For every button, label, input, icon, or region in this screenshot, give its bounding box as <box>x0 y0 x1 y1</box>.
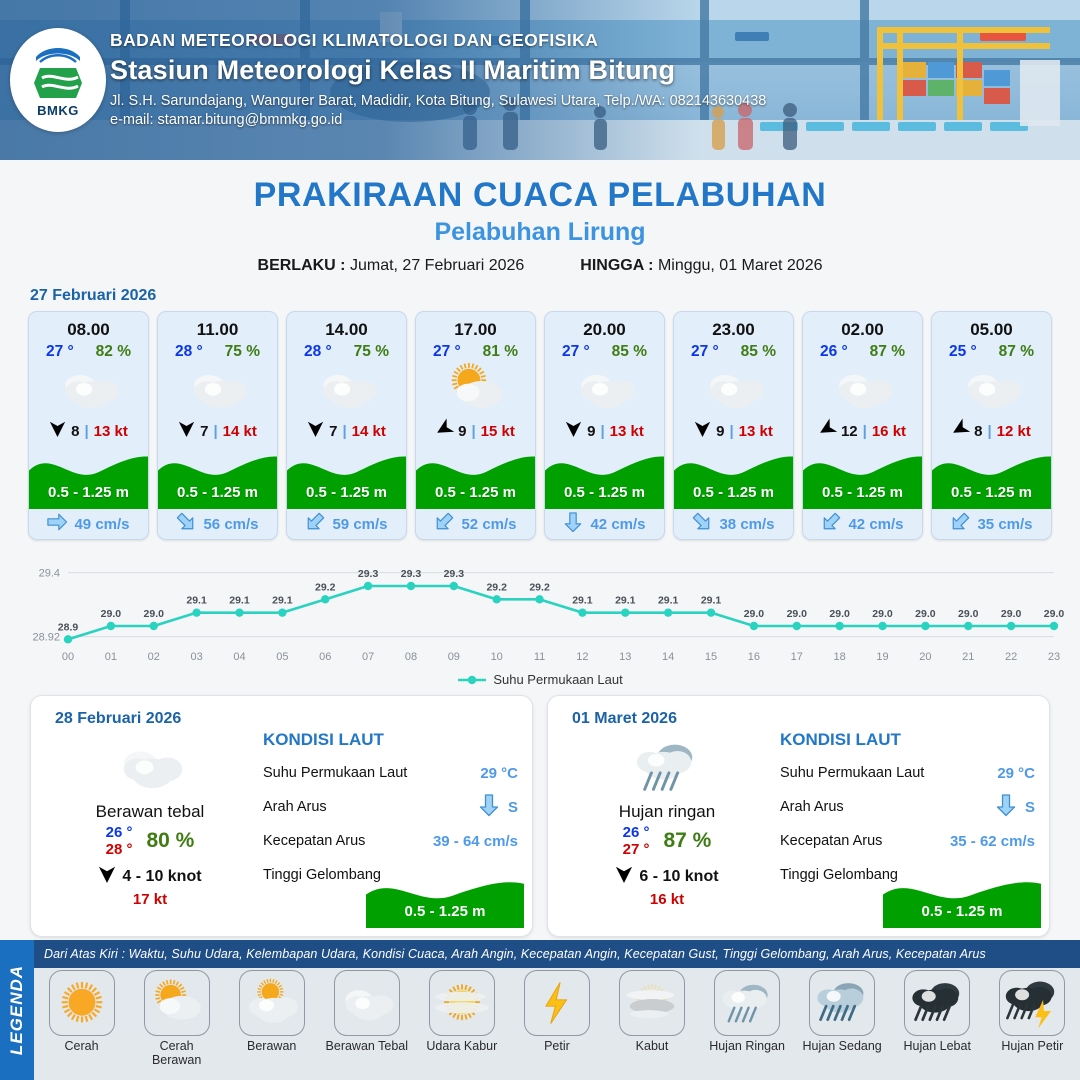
card-wave-band: 0.5 - 1.25 m <box>287 447 406 509</box>
panel-row-label: Suhu Permukaan Laut <box>780 765 924 781</box>
current-direction-arrow-icon <box>47 511 67 538</box>
panel-wind-range: 4 - 10 knot <box>122 868 201 886</box>
station-name: Stasiun Meteorologi Kelas II Maritim Bit… <box>110 55 766 86</box>
panel-temp-col: 26 ° 27 ° <box>623 824 650 858</box>
legend-kabut-icon <box>619 970 685 1036</box>
wind-gust-separator: | <box>471 423 475 440</box>
berlaku-label: BERLAKU : <box>258 257 346 274</box>
svg-text:29.1: 29.1 <box>229 595 250 607</box>
panel-row-label: Kecepatan Arus <box>780 833 882 849</box>
wind-direction-arrow-icon <box>436 419 453 443</box>
legend-item-label: Berawan Tebal <box>324 1039 410 1053</box>
card-wind-row: 8 | 13 kt <box>29 417 148 445</box>
legend-item: Berawan <box>229 970 315 1067</box>
hourly-forecast-list: 08.00 27 ° 82 % 8 | 13 kt 0.5 - 1.25 m <box>0 311 1080 540</box>
card-current-row: 52 cm/s <box>416 509 535 539</box>
panel-gust: 17 kt <box>45 891 255 908</box>
card-time: 11.00 <box>158 312 277 340</box>
svg-text:10: 10 <box>491 651 503 663</box>
card-wave-height: 0.5 - 1.25 m <box>287 484 406 501</box>
panel-summary: Hujan ringan 26 ° 27 ° 87 % 6 - 10 knot … <box>562 736 772 908</box>
card-gust: 15 kt <box>481 423 515 440</box>
current-direction-arrow-icon <box>434 511 454 538</box>
panel-temp-min: 26 ° <box>106 824 133 841</box>
svg-text:29.0: 29.0 <box>101 608 122 620</box>
legend-item: Hujan Ringan <box>704 970 790 1067</box>
legend-cerah-icon <box>49 970 115 1036</box>
card-current-row: 42 cm/s <box>545 509 664 539</box>
hourly-forecast-card: 17.00 27 ° 81 % 9 | 15 kt 0.5 - 1.25 m 5… <box>415 311 536 540</box>
card-wind-speed: 12 <box>841 423 858 440</box>
weather-hujan-ringan-icon <box>562 736 772 798</box>
card-temp-hum-row: 27 ° 82 % <box>29 340 148 361</box>
card-wave-height: 0.5 - 1.25 m <box>416 484 535 501</box>
svg-text:29.0: 29.0 <box>787 608 808 620</box>
panel-sea-title: KONDISI LAUT <box>780 730 1035 750</box>
card-time: 14.00 <box>287 312 406 340</box>
panel-row-value: 29 °C <box>480 765 518 782</box>
card-wind-speed: 8 <box>71 423 79 440</box>
card-wind-speed: 8 <box>974 423 982 440</box>
card-wave-band: 0.5 - 1.25 m <box>674 447 793 509</box>
legend-item-label: Hujan Sedang <box>799 1039 885 1053</box>
panel-date: 28 Februari 2026 <box>55 710 181 728</box>
legend-item: Hujan Sedang <box>799 970 885 1067</box>
card-wind-row: 9 | 15 kt <box>416 417 535 445</box>
card-gust: 13 kt <box>739 423 773 440</box>
weather-berawan-tebal-icon <box>932 361 1051 417</box>
card-wave-height: 0.5 - 1.25 m <box>932 484 1051 501</box>
svg-text:23: 23 <box>1048 651 1060 663</box>
svg-text:15: 15 <box>705 651 717 663</box>
legend-section: LEGENDA Dari Atas Kiri : Waktu, Suhu Uda… <box>0 940 1080 1080</box>
card-current-speed: 52 cm/s <box>461 516 516 533</box>
legend-item-label: Kabut <box>609 1039 695 1053</box>
wind-direction-arrow-icon <box>307 419 324 443</box>
legend-petir-icon <box>524 970 590 1036</box>
daily-forecast-panel: 28 Februari 2026 Berawan tebal 26 ° 28 °… <box>30 695 533 937</box>
panel-row-value: S <box>478 793 518 822</box>
svg-text:02: 02 <box>148 651 160 663</box>
legend-item-label: Hujan Petir <box>989 1039 1075 1053</box>
legend-item: Udara Kabur <box>419 970 505 1067</box>
svg-text:22: 22 <box>1005 651 1017 663</box>
legend-udara-kabur-icon <box>429 970 495 1036</box>
svg-text:12: 12 <box>576 651 588 663</box>
panel-wave-band: 0.5 - 1.25 m <box>366 874 524 928</box>
svg-text:05: 05 <box>276 651 288 663</box>
svg-text:04: 04 <box>233 651 245 663</box>
card-wave-height: 0.5 - 1.25 m <box>545 484 664 501</box>
svg-text:09: 09 <box>448 651 460 663</box>
panel-row-label: Arah Arus <box>780 799 844 815</box>
legend-item: Kabut <box>609 970 695 1067</box>
bmkg-hex-icon <box>32 66 84 100</box>
svg-text:29.1: 29.1 <box>186 595 207 607</box>
card-wind-row: 7 | 14 kt <box>158 417 277 445</box>
svg-text:21: 21 <box>962 651 974 663</box>
panel-current-direction: S <box>508 799 518 816</box>
organization-name: BADAN METEOROLOGI KLIMATOLOGI DAN GEOFIS… <box>110 30 766 51</box>
panel-row: Suhu Permukaan Laut 29 °C <box>263 756 518 790</box>
card-wind-row: 9 | 13 kt <box>545 417 664 445</box>
wind-gust-separator: | <box>84 423 88 440</box>
svg-text:29.4: 29.4 <box>39 568 60 580</box>
current-direction-arrow-icon <box>821 511 841 538</box>
panel-humidity: 87 % <box>663 829 711 853</box>
current-direction-arrow-icon <box>950 511 970 538</box>
logo-label: BMKG <box>37 103 79 118</box>
wind-gust-separator: | <box>600 423 604 440</box>
svg-text:29.0: 29.0 <box>829 608 850 620</box>
legend-item-label: Cerah Berawan <box>134 1039 220 1067</box>
bmkg-wave-icon <box>32 43 84 65</box>
validity-to: HINGGA : Minggu, 01 Maret 2026 <box>580 257 822 275</box>
panel-wave-band: 0.5 - 1.25 m <box>883 874 1041 928</box>
card-wave-height: 0.5 - 1.25 m <box>674 484 793 501</box>
legend-side-banner: LEGENDA <box>0 940 34 1080</box>
card-time: 02.00 <box>803 312 922 340</box>
card-wind-speed: 7 <box>329 423 337 440</box>
card-current-row: 49 cm/s <box>29 509 148 539</box>
card-wave-height: 0.5 - 1.25 m <box>29 484 148 501</box>
card-wind-row: 12 | 16 kt <box>803 417 922 445</box>
wind-direction-arrow-icon <box>615 864 633 889</box>
card-temp-hum-row: 26 ° 87 % <box>803 340 922 361</box>
card-wave-band: 0.5 - 1.25 m <box>932 447 1051 509</box>
panel-row-value: S <box>995 793 1035 822</box>
current-direction-arrow-icon <box>692 511 712 538</box>
card-time: 05.00 <box>932 312 1051 340</box>
svg-text:29.0: 29.0 <box>1044 608 1065 620</box>
infographic-page: BMKG BADAN METEOROLOGI KLIMATOLOGI DAN G… <box>0 0 1080 1080</box>
legend-hujan-petir-icon <box>999 970 1065 1036</box>
card-gust: 14 kt <box>352 423 386 440</box>
page-header: BMKG BADAN METEOROLOGI KLIMATOLOGI DAN G… <box>0 0 1080 160</box>
chart-legend-marker-icon <box>457 674 487 686</box>
wind-gust-separator: | <box>863 423 867 440</box>
wind-gust-separator: | <box>987 423 991 440</box>
panel-row-label: Suhu Permukaan Laut <box>263 765 407 781</box>
hourly-forecast-card: 05.00 25 ° 87 % 8 | 12 kt 0.5 - 1.25 m <box>931 311 1052 540</box>
hingga-label: HINGGA : <box>580 257 653 274</box>
hourly-date-label: 27 Februari 2026 <box>30 287 1080 305</box>
panel-sea-conditions: KONDISI LAUT Suhu Permukaan Laut 29 °C A… <box>263 730 518 892</box>
card-current-speed: 59 cm/s <box>332 516 387 533</box>
card-current-speed: 56 cm/s <box>203 516 258 533</box>
card-wind-row: 7 | 14 kt <box>287 417 406 445</box>
daily-forecast-panels: 28 Februari 2026 Berawan tebal 26 ° 28 °… <box>0 687 1080 937</box>
chart-legend-label: Suhu Permukaan Laut <box>493 672 622 687</box>
svg-text:29.1: 29.1 <box>272 595 293 607</box>
legend-item: Berawan Tebal <box>324 970 410 1067</box>
svg-text:16: 16 <box>748 651 760 663</box>
svg-text:29.3: 29.3 <box>444 568 465 580</box>
svg-text:20: 20 <box>919 651 931 663</box>
svg-text:29.0: 29.0 <box>872 608 893 620</box>
svg-text:17: 17 <box>791 651 803 663</box>
weather-cerah-berawan-icon <box>416 361 535 417</box>
weather-berawan-tebal-icon <box>545 361 664 417</box>
svg-text:14: 14 <box>662 651 674 663</box>
card-time: 23.00 <box>674 312 793 340</box>
page-title: PRAKIRAAN CUACA PELABUHAN <box>0 176 1080 215</box>
panel-wave-height: 0.5 - 1.25 m <box>883 903 1041 920</box>
panel-row-label: Kecepatan Arus <box>263 833 365 849</box>
panel-row-label: Arah Arus <box>263 799 327 815</box>
card-time: 08.00 <box>29 312 148 340</box>
panel-row-value: 39 - 64 cm/s <box>433 833 518 850</box>
legend-hujan-ringan-icon <box>714 970 780 1036</box>
svg-text:19: 19 <box>876 651 888 663</box>
card-current-row: 42 cm/s <box>803 509 922 539</box>
panel-wind-range: 6 - 10 knot <box>639 868 718 886</box>
panel-row: Arah Arus S <box>263 790 518 824</box>
svg-text:29.0: 29.0 <box>144 608 165 620</box>
hourly-forecast-card: 11.00 28 ° 75 % 7 | 14 kt 0.5 - 1.25 m <box>157 311 278 540</box>
panel-row-value: 35 - 62 cm/s <box>950 833 1035 850</box>
wind-direction-arrow-icon <box>565 419 582 443</box>
card-temp-hum-row: 27 ° 85 % <box>545 340 664 361</box>
svg-text:29.1: 29.1 <box>572 595 593 607</box>
current-direction-arrow-icon <box>995 793 1017 822</box>
wind-direction-arrow-icon <box>694 419 711 443</box>
svg-text:29.0: 29.0 <box>915 608 936 620</box>
card-current-row: 38 cm/s <box>674 509 793 539</box>
card-current-row: 56 cm/s <box>158 509 277 539</box>
bmkg-logo: BMKG <box>10 28 106 132</box>
panel-wind-row: 4 - 10 knot <box>45 864 255 889</box>
svg-text:03: 03 <box>190 651 202 663</box>
page-subtitle: Pelabuhan Lirung <box>0 218 1080 247</box>
svg-text:08: 08 <box>405 651 417 663</box>
wind-direction-arrow-icon <box>178 419 195 443</box>
weather-berawan-tebal-icon <box>29 361 148 417</box>
validity-row: BERLAKU : Jumat, 27 Februari 2026 HINGGA… <box>0 257 1080 275</box>
legend-item-label: Hujan Ringan <box>704 1039 790 1053</box>
weather-berawan-tebal-icon <box>45 736 255 798</box>
svg-text:29.1: 29.1 <box>615 595 636 607</box>
weather-berawan-tebal-icon <box>803 361 922 417</box>
current-direction-arrow-icon <box>176 511 196 538</box>
svg-text:28.92: 28.92 <box>32 632 60 644</box>
panel-row-label: Tinggi Gelombang <box>263 867 381 883</box>
svg-text:00: 00 <box>62 651 74 663</box>
panel-sea-title: KONDISI LAUT <box>263 730 518 750</box>
svg-text:29.2: 29.2 <box>529 581 550 593</box>
wind-direction-arrow-icon <box>819 419 836 443</box>
svg-text:06: 06 <box>319 651 331 663</box>
legend-item: Hujan Lebat <box>894 970 980 1067</box>
panel-gust: 16 kt <box>562 891 772 908</box>
panel-temp-max: 27 ° <box>623 841 650 858</box>
current-direction-arrow-icon <box>478 793 500 822</box>
card-wind-speed: 9 <box>587 423 595 440</box>
card-current-speed: 35 cm/s <box>977 516 1032 533</box>
svg-text:29.0: 29.0 <box>744 608 765 620</box>
legend-item-label: Berawan <box>229 1039 315 1053</box>
hourly-forecast-card: 08.00 27 ° 82 % 8 | 13 kt 0.5 - 1.25 m <box>28 311 149 540</box>
svg-text:29.2: 29.2 <box>315 581 336 593</box>
card-wave-height: 0.5 - 1.25 m <box>803 484 922 501</box>
svg-text:28.9: 28.9 <box>58 621 79 633</box>
card-current-row: 59 cm/s <box>287 509 406 539</box>
svg-text:29.3: 29.3 <box>401 568 422 580</box>
svg-text:29.1: 29.1 <box>701 595 722 607</box>
station-address: Jl. S.H. Sarundajang, Wangurer Barat, Ma… <box>110 93 766 109</box>
panel-row: Suhu Permukaan Laut 29 °C <box>780 756 1035 790</box>
card-wave-band: 0.5 - 1.25 m <box>803 447 922 509</box>
validity-from: BERLAKU : Jumat, 27 Februari 2026 <box>258 257 525 275</box>
card-wind-row: 9 | 13 kt <box>674 417 793 445</box>
daily-forecast-panel: 01 Maret 2026 Hujan ringan 26 ° 27 ° 87 … <box>547 695 1050 937</box>
card-temp-hum-row: 27 ° 85 % <box>674 340 793 361</box>
svg-text:13: 13 <box>619 651 631 663</box>
card-wave-band: 0.5 - 1.25 m <box>29 447 148 509</box>
card-temp-hum-row: 28 ° 75 % <box>158 340 277 361</box>
panel-wave-height: 0.5 - 1.25 m <box>366 903 524 920</box>
panel-condition: Berawan tebal <box>45 802 255 822</box>
card-wind-speed: 9 <box>716 423 724 440</box>
legend-item: Cerah Berawan <box>134 970 220 1067</box>
legend-side-label: LEGENDA <box>7 965 27 1055</box>
panel-temps: 26 ° 27 ° 87 % <box>562 824 772 858</box>
panel-sea-conditions: KONDISI LAUT Suhu Permukaan Laut 29 °C A… <box>780 730 1035 892</box>
svg-text:29.1: 29.1 <box>658 595 679 607</box>
legend-item-label: Petir <box>514 1039 600 1053</box>
hourly-forecast-card: 20.00 27 ° 85 % 9 | 13 kt 0.5 - 1.25 m <box>544 311 665 540</box>
weather-berawan-tebal-icon <box>158 361 277 417</box>
panel-row: Kecepatan Arus 35 - 62 cm/s <box>780 824 1035 858</box>
legend-item: Cerah <box>39 970 125 1067</box>
panel-temp-max: 28 ° <box>106 841 133 858</box>
sst-chart: 29.428.9228.90029.00129.00229.10329.1042… <box>10 548 1070 670</box>
card-time: 20.00 <box>545 312 664 340</box>
legend-hujan-lebat-icon <box>904 970 970 1036</box>
svg-text:11: 11 <box>534 651 545 663</box>
card-wind-speed: 9 <box>458 423 466 440</box>
card-wave-height: 0.5 - 1.25 m <box>158 484 277 501</box>
berlaku-value: Jumat, 27 Februari 2026 <box>350 257 524 274</box>
weather-berawan-tebal-icon <box>287 361 406 417</box>
wind-gust-separator: | <box>213 423 217 440</box>
panel-row-value: 29 °C <box>997 765 1035 782</box>
card-temp-hum-row: 27 ° 81 % <box>416 340 535 361</box>
svg-text:18: 18 <box>834 651 846 663</box>
panel-current-direction: S <box>1025 799 1035 816</box>
legend-item-label: Hujan Lebat <box>894 1039 980 1053</box>
panel-row: Arah Arus S <box>780 790 1035 824</box>
legend-berawan-tebal-icon <box>334 970 400 1036</box>
hourly-forecast-card: 14.00 28 ° 75 % 7 | 14 kt 0.5 - 1.25 m <box>286 311 407 540</box>
panel-temps: 26 ° 28 ° 80 % <box>45 824 255 858</box>
panel-row-label: Tinggi Gelombang <box>780 867 898 883</box>
header-text-block: BADAN METEOROLOGI KLIMATOLOGI DAN GEOFIS… <box>110 30 766 128</box>
svg-text:07: 07 <box>362 651 374 663</box>
panel-date: 01 Maret 2026 <box>572 710 677 728</box>
current-direction-arrow-icon <box>305 511 325 538</box>
card-gust: 12 kt <box>997 423 1031 440</box>
card-time: 17.00 <box>416 312 535 340</box>
card-wind-row: 8 | 12 kt <box>932 417 1051 445</box>
legend-item-label: Cerah <box>39 1039 125 1053</box>
card-gust: 16 kt <box>872 423 906 440</box>
legend-item-label: Udara Kabur <box>419 1039 505 1053</box>
legend-cerah-berawan-icon <box>144 970 210 1036</box>
panel-temp-min: 26 ° <box>623 824 650 841</box>
panel-row: Kecepatan Arus 39 - 64 cm/s <box>263 824 518 858</box>
wind-gust-separator: | <box>342 423 346 440</box>
current-direction-arrow-icon <box>563 511 583 538</box>
legend-note: Dari Atas Kiri : Waktu, Suhu Udara, Kele… <box>34 940 1080 968</box>
panel-humidity: 80 % <box>146 829 194 853</box>
card-current-speed: 42 cm/s <box>590 516 645 533</box>
hingga-value: Minggu, 01 Maret 2026 <box>658 257 823 274</box>
svg-text:29.0: 29.0 <box>1001 608 1022 620</box>
wind-direction-arrow-icon <box>49 419 66 443</box>
card-current-speed: 38 cm/s <box>719 516 774 533</box>
legend-hujan-sedang-icon <box>809 970 875 1036</box>
wind-direction-arrow-icon <box>98 864 116 889</box>
card-wave-band: 0.5 - 1.25 m <box>416 447 535 509</box>
card-wave-band: 0.5 - 1.25 m <box>158 447 277 509</box>
card-gust: 14 kt <box>223 423 257 440</box>
card-temp-hum-row: 25 ° 87 % <box>932 340 1051 361</box>
card-current-speed: 42 cm/s <box>848 516 903 533</box>
hourly-forecast-card: 23.00 27 ° 85 % 9 | 13 kt 0.5 - 1.25 m <box>673 311 794 540</box>
station-email: e-mail: stamar.bitung@bmmkg.go.id <box>110 112 766 128</box>
panel-summary: Berawan tebal 26 ° 28 ° 80 % 4 - 10 knot… <box>45 736 255 908</box>
card-gust: 13 kt <box>94 423 128 440</box>
card-wave-band: 0.5 - 1.25 m <box>545 447 664 509</box>
legend-item: Petir <box>514 970 600 1067</box>
panel-temp-col: 26 ° 28 ° <box>106 824 133 858</box>
legend-item: Hujan Petir <box>989 970 1075 1067</box>
wind-direction-arrow-icon <box>952 419 969 443</box>
svg-text:29.0: 29.0 <box>958 608 979 620</box>
panel-wind-row: 6 - 10 knot <box>562 864 772 889</box>
card-wind-speed: 7 <box>200 423 208 440</box>
panel-condition: Hujan ringan <box>562 802 772 822</box>
card-gust: 13 kt <box>610 423 644 440</box>
card-current-row: 35 cm/s <box>932 509 1051 539</box>
card-temp-hum-row: 28 ° 75 % <box>287 340 406 361</box>
svg-text:01: 01 <box>105 651 117 663</box>
svg-text:29.3: 29.3 <box>358 568 379 580</box>
card-current-speed: 49 cm/s <box>74 516 129 533</box>
hourly-forecast-card: 02.00 26 ° 87 % 12 | 16 kt 0.5 - 1.25 m <box>802 311 923 540</box>
legend-items: Cerah Cerah Berawan Berawan Berawan Teba… <box>34 970 1080 1067</box>
weather-berawan-tebal-icon <box>674 361 793 417</box>
wind-gust-separator: | <box>729 423 733 440</box>
legend-berawan-icon <box>239 970 305 1036</box>
svg-text:29.2: 29.2 <box>486 581 507 593</box>
chart-legend: Suhu Permukaan Laut <box>0 672 1080 687</box>
